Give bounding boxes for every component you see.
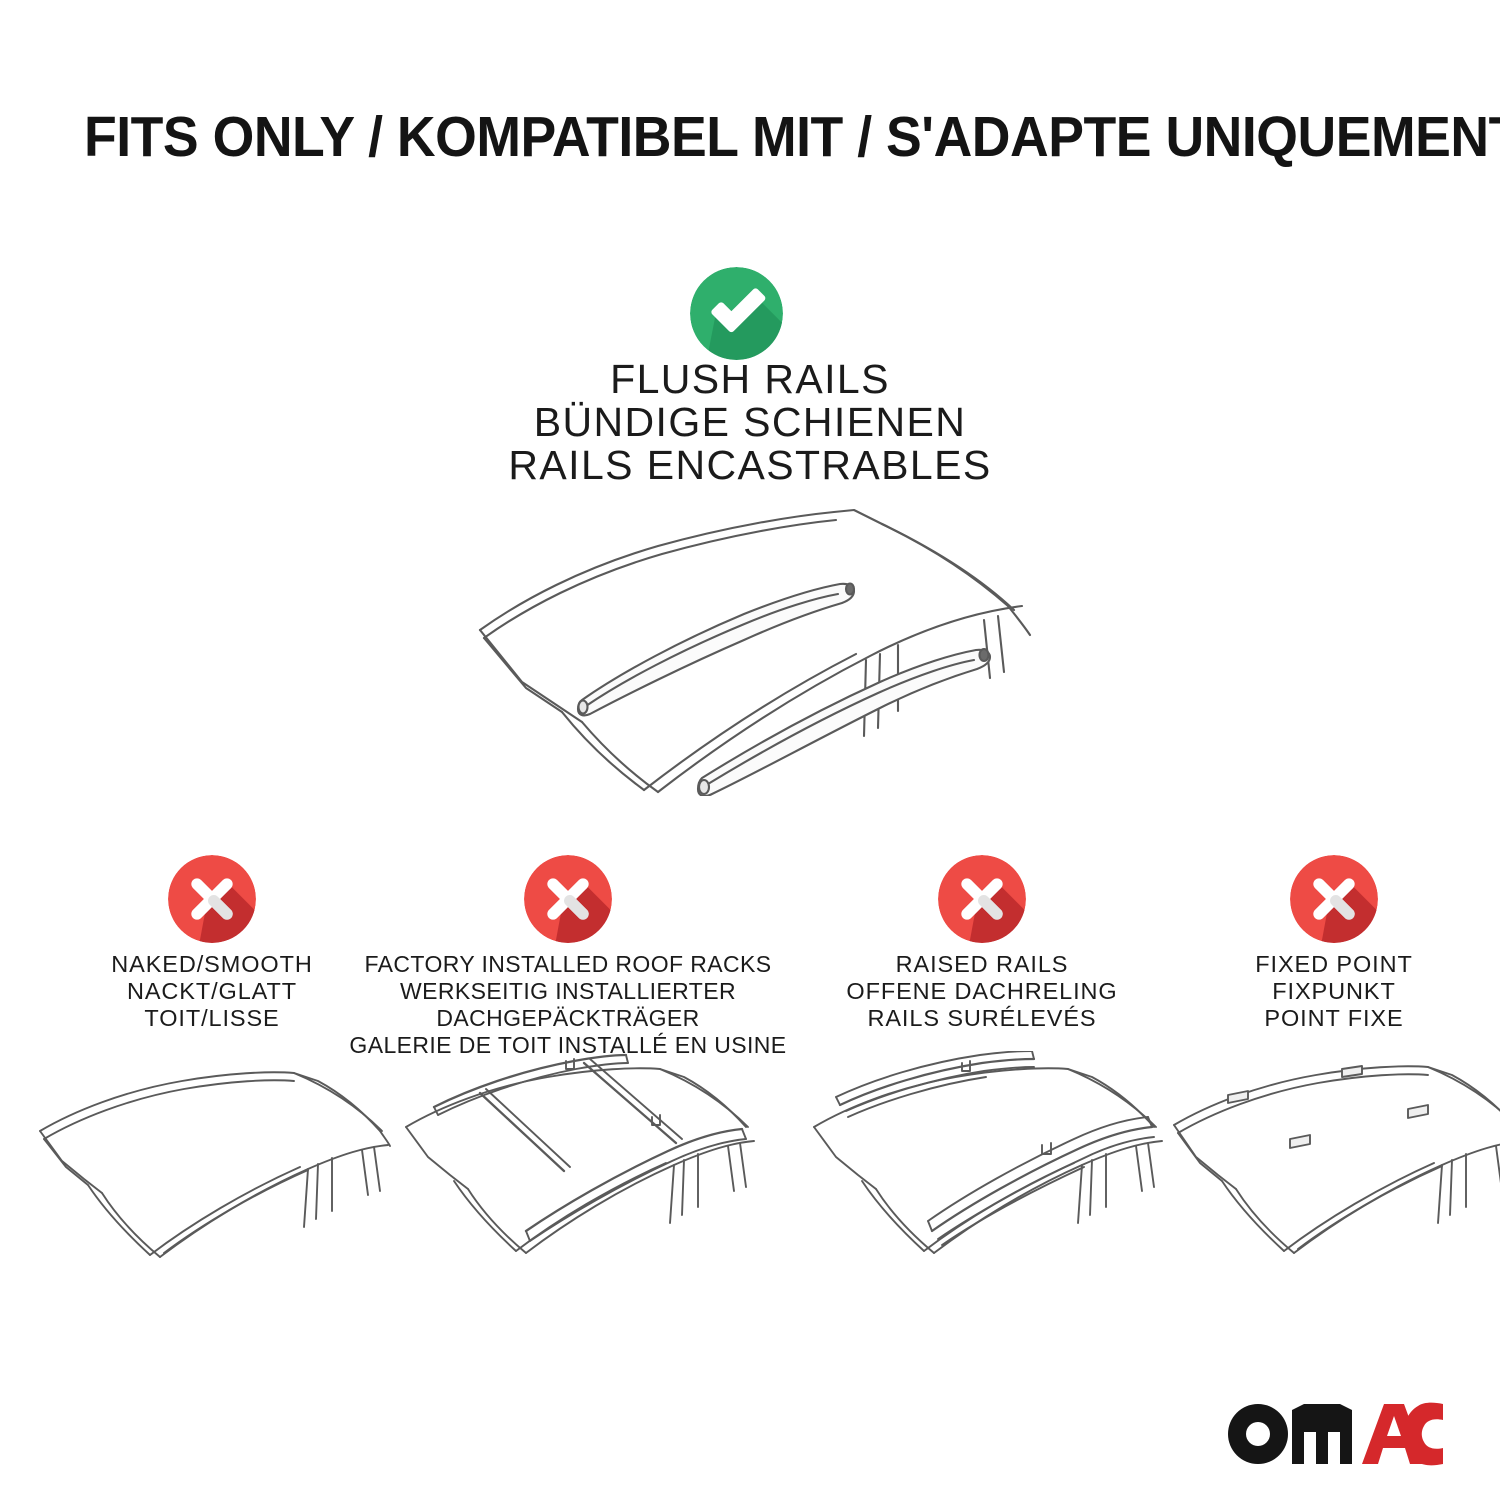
compatible-label-line-en: FLUSH RAILS: [250, 358, 1250, 401]
x-circle-icon: [938, 855, 1026, 943]
label-line-en: NAKED/SMOOTH: [36, 951, 388, 978]
car-roof-flush-rails-illustration: [462, 496, 1042, 796]
omac-logo: [1228, 1398, 1443, 1470]
compatible-label-line-de: BÜNDIGE SCHIENEN: [250, 401, 1250, 444]
label-line-de: OFFENE DACHRELING: [806, 978, 1158, 1005]
label-line-de-2: DACHGEPÄCKTRÄGER: [338, 1005, 798, 1032]
compatible-label: FLUSH RAILS BÜNDIGE SCHIENEN RAILS ENCAS…: [250, 358, 1250, 487]
x-circle-icon: [168, 855, 256, 943]
label-line-de: FIXPUNKT: [1158, 978, 1500, 1005]
incompatible-label-factory-roof-racks: FACTORY INSTALLED ROOF RACKS WERKSEITIG …: [338, 951, 798, 1059]
logo-letter-m: [1292, 1404, 1352, 1464]
car-roof-factory-racks-illustration: [398, 1051, 758, 1281]
car-roof-raised-rails-illustration: [806, 1051, 1166, 1281]
label-line-en: FIXED POINT: [1158, 951, 1500, 978]
x-circle-icon: [1290, 855, 1378, 943]
label-line-fr: RAILS SURÉLEVÉS: [806, 1005, 1158, 1032]
car-roof-fixed-point-illustration: [1166, 1053, 1500, 1283]
label-line-de: NACKT/GLATT: [36, 978, 388, 1005]
incompatible-label-naked-smooth: NAKED/SMOOTH NACKT/GLATT TOIT/LISSE: [36, 951, 388, 1032]
label-line-en: RAISED RAILS: [806, 951, 1158, 978]
page-title: FITS ONLY / KOMPATIBEL MIT / S'ADAPTE UN…: [84, 104, 1344, 170]
incompatible-label-fixed-point: FIXED POINT FIXPUNKT POINT FIXE: [1158, 951, 1500, 1032]
label-line-fr: TOIT/LISSE: [36, 1005, 388, 1032]
label-line-en: FACTORY INSTALLED ROOF RACKS: [338, 951, 798, 978]
x-circle-icon: [524, 855, 612, 943]
label-line-de-1: WERKSEITIG INSTALLIERTER: [338, 978, 798, 1005]
label-line-fr: POINT FIXE: [1158, 1005, 1500, 1032]
incompatible-label-raised-rails: RAISED RAILS OFFENE DACHRELING RAILS SUR…: [806, 951, 1158, 1032]
compatible-label-line-fr: RAILS ENCASTRABLES: [250, 444, 1250, 487]
check-circle-icon: [690, 267, 783, 360]
logo-letter-o: [1228, 1404, 1288, 1464]
car-roof-naked-illustration: [32, 1055, 392, 1285]
